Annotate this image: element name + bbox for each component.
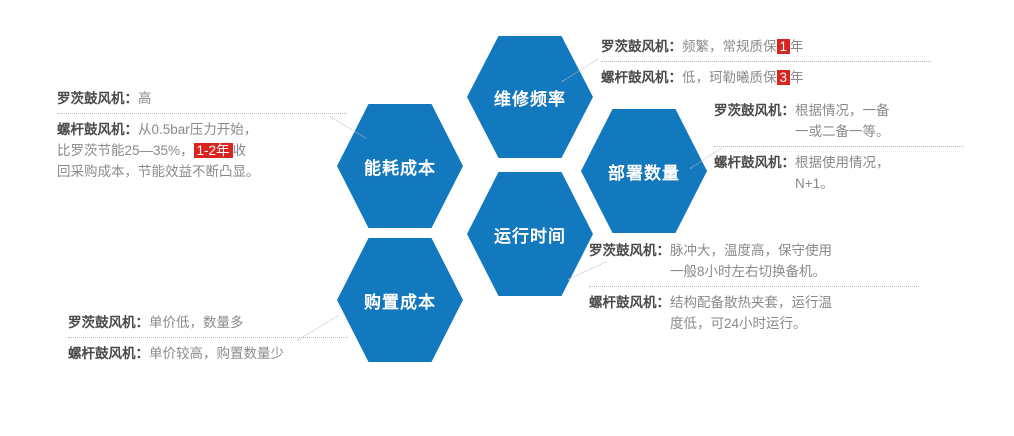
annotation-purchase-cost-divider bbox=[68, 337, 348, 338]
annotation-maintenance-frequency-highlight-warranty: 1 bbox=[777, 39, 791, 54]
annotation-running-time-roots-value: 脉冲大，温度高，保守使用 一般8小时左右切换备机。 bbox=[670, 240, 832, 282]
annotation-deployment-quantity-roots: 罗茨鼓风机： 根据情况，一备 一或二备一等。 bbox=[714, 100, 964, 142]
hexagon-label-maintenance-frequency: 维修频率 bbox=[494, 85, 566, 110]
annotation-running-time-roots: 罗茨鼓风机： 脉冲大，温度高，保守使用 一般8小时左右切换备机。 bbox=[589, 240, 919, 282]
annotation-deployment-quantity-screw-label: 螺杆鼓风机： bbox=[714, 152, 795, 173]
annotation-energy-cost: 罗茨鼓风机： 高 螺杆鼓风机：从0.5bar压力开始， 比罗茨节能25—35%，… bbox=[57, 88, 347, 182]
annotation-maintenance-frequency-roots-post: 年 bbox=[790, 39, 804, 54]
annotation-maintenance-frequency-screw-pre: 低，珂勒曦质保 bbox=[682, 70, 777, 85]
annotation-deployment-quantity-screw-line2: N+1。 bbox=[795, 173, 890, 194]
annotation-running-time-divider bbox=[589, 286, 919, 287]
annotation-running-time-roots-label: 罗茨鼓风机： bbox=[589, 240, 670, 261]
annotation-purchase-cost-roots-value: 单价低，数量多 bbox=[149, 312, 244, 333]
annotation-deployment-quantity-divider bbox=[714, 146, 964, 147]
annotation-maintenance-frequency: 罗茨鼓风机： 频繁，常规质保1年 螺杆鼓风机： 低，珂勒曦质保3年 bbox=[601, 36, 931, 88]
annotation-running-time: 罗茨鼓风机： 脉冲大，温度高，保守使用 一般8小时左右切换备机。 螺杆鼓风机： … bbox=[589, 240, 919, 334]
annotation-deployment-quantity-screw: 螺杆鼓风机： 根据使用情况， N+1。 bbox=[714, 152, 964, 194]
annotation-energy-cost-roots: 罗茨鼓风机： 高 bbox=[57, 88, 347, 109]
hexagon-label-deployment-quantity: 部署数量 bbox=[608, 159, 680, 184]
hexagon-label-purchase-cost: 购置成本 bbox=[364, 288, 436, 313]
annotation-running-time-roots-line2: 一般8小时左右切换备机。 bbox=[670, 261, 832, 282]
annotation-energy-cost-screw: 螺杆鼓风机：从0.5bar压力开始， 比罗茨节能25—35%，1-2年收 回采购… bbox=[57, 119, 347, 182]
annotation-deployment-quantity-screw-line1: 根据使用情况， bbox=[795, 152, 890, 173]
annotation-maintenance-frequency-roots-pre: 频繁，常规质保 bbox=[682, 39, 777, 54]
annotation-maintenance-frequency-divider bbox=[601, 61, 931, 62]
annotation-purchase-cost: 罗茨鼓风机： 单价低，数量多 螺杆鼓风机： 单价较高，购置数量少 bbox=[68, 312, 348, 364]
annotation-purchase-cost-screw: 螺杆鼓风机： 单价较高，购置数量少 bbox=[68, 343, 348, 364]
annotation-maintenance-frequency-roots-value: 频繁，常规质保1年 bbox=[682, 36, 804, 57]
annotation-energy-cost-screw-line1: 从0.5bar压力开始， bbox=[138, 122, 257, 137]
annotation-deployment-quantity-roots-line2: 一或二备一等。 bbox=[795, 121, 890, 142]
annotation-running-time-screw-line1: 结构配备散热夹套，运行温 bbox=[670, 292, 832, 313]
annotation-purchase-cost-screw-value: 单价较高，购置数量少 bbox=[149, 343, 284, 364]
hexagon-purchase-cost[interactable]: 购置成本 bbox=[337, 238, 463, 362]
hexagon-deployment-quantity[interactable]: 部署数量 bbox=[581, 109, 707, 233]
annotation-deployment-quantity-roots-label: 罗茨鼓风机： bbox=[714, 100, 795, 121]
annotation-energy-cost-divider bbox=[57, 113, 347, 114]
annotation-energy-cost-roots-label: 罗茨鼓风机： bbox=[57, 88, 138, 109]
hexagon-label-energy-cost: 能耗成本 bbox=[364, 154, 436, 179]
infographic-canvas: 维修频率 能耗成本 部署数量 运行时间 购置成本 罗茨鼓风机： 高 螺杆鼓风机：… bbox=[0, 0, 1014, 436]
annotation-purchase-cost-roots: 罗茨鼓风机： 单价低，数量多 bbox=[68, 312, 348, 333]
annotation-running-time-screw: 螺杆鼓风机： 结构配备散热夹套，运行温 度低，可24小时运行。 bbox=[589, 292, 919, 334]
hexagon-maintenance-frequency[interactable]: 维修频率 bbox=[467, 36, 593, 158]
annotation-maintenance-frequency-screw: 螺杆鼓风机： 低，珂勒曦质保3年 bbox=[601, 67, 931, 88]
hexagon-energy-cost[interactable]: 能耗成本 bbox=[337, 104, 463, 228]
annotation-running-time-screw-line2: 度低，可24小时运行。 bbox=[670, 313, 832, 334]
annotation-maintenance-frequency-roots-label: 罗茨鼓风机： bbox=[601, 36, 682, 57]
annotation-energy-cost-screw-line2-pre: 比罗茨节能25—35%， bbox=[57, 143, 194, 158]
annotation-maintenance-frequency-screw-label: 螺杆鼓风机： bbox=[601, 67, 682, 88]
annotation-maintenance-frequency-screw-value: 低，珂勒曦质保3年 bbox=[682, 67, 804, 88]
annotation-energy-cost-roots-value: 高 bbox=[138, 88, 152, 109]
annotation-deployment-quantity: 罗茨鼓风机： 根据情况，一备 一或二备一等。 螺杆鼓风机： 根据使用情况， N+… bbox=[714, 100, 964, 194]
annotation-deployment-quantity-roots-line1: 根据情况，一备 bbox=[795, 100, 890, 121]
annotation-energy-cost-screw-line3: 回采购成本，节能效益不断凸显。 bbox=[57, 161, 347, 182]
annotation-running-time-roots-line1: 脉冲大，温度高，保守使用 bbox=[670, 240, 832, 261]
annotation-energy-cost-screw-label: 螺杆鼓风机： bbox=[57, 122, 138, 137]
annotation-deployment-quantity-screw-value: 根据使用情况， N+1。 bbox=[795, 152, 890, 194]
annotation-purchase-cost-roots-label: 罗茨鼓风机： bbox=[68, 312, 149, 333]
annotation-maintenance-frequency-roots: 罗茨鼓风机： 频繁，常规质保1年 bbox=[601, 36, 931, 57]
annotation-energy-cost-screw-line2: 比罗茨节能25—35%，1-2年收 bbox=[57, 140, 347, 161]
annotation-running-time-screw-value: 结构配备散热夹套，运行温 度低，可24小时运行。 bbox=[670, 292, 832, 334]
annotation-purchase-cost-screw-label: 螺杆鼓风机： bbox=[68, 343, 149, 364]
annotation-energy-cost-screw-line2-post: 收 bbox=[233, 143, 247, 158]
annotation-maintenance-frequency-highlight-warranty-screw: 3 bbox=[777, 70, 791, 85]
annotation-deployment-quantity-roots-value: 根据情况，一备 一或二备一等。 bbox=[795, 100, 890, 142]
annotation-maintenance-frequency-screw-post: 年 bbox=[790, 70, 804, 85]
annotation-running-time-screw-label: 螺杆鼓风机： bbox=[589, 292, 670, 313]
annotation-energy-cost-highlight-years: 1-2年 bbox=[194, 143, 233, 158]
hexagon-running-time[interactable]: 运行时间 bbox=[467, 172, 593, 296]
hexagon-label-running-time: 运行时间 bbox=[494, 222, 566, 247]
